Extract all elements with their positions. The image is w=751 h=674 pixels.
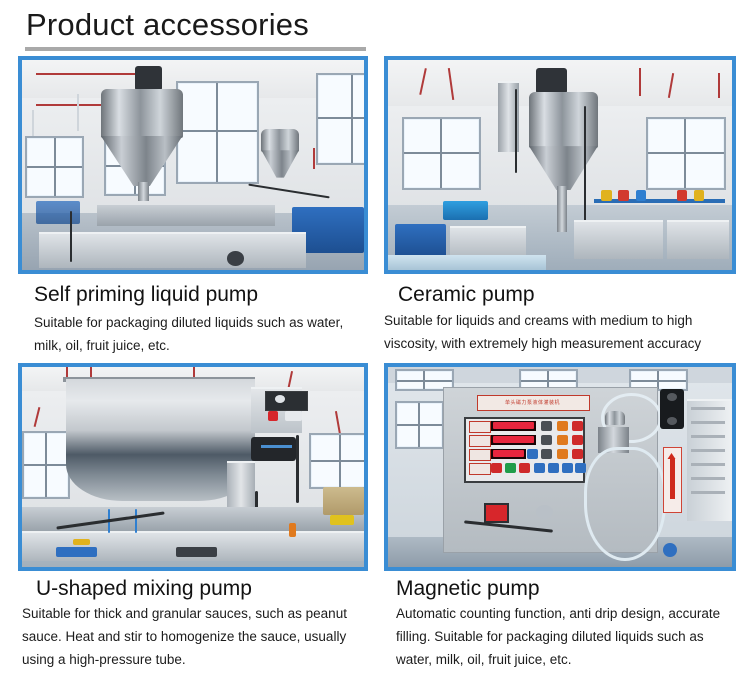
accessory-title: Ceramic pump <box>398 282 736 308</box>
section-header: Product accessories <box>0 0 751 56</box>
accessories-grid: Self priming liquid pump Suitable for pa… <box>0 56 751 674</box>
accessory-card-ceramic-pump[interactable]: Ceramic pump Suitable for liquids and cr… <box>384 56 736 355</box>
accessory-title: U-shaped mixing pump <box>36 576 368 602</box>
accessory-photo-magnetic-pump: 单头磁力泵液体灌装机 <box>384 363 736 571</box>
accessory-card-u-shaped-mixing-pump[interactable]: U-shaped mixing pump Suitable for thick … <box>18 363 368 671</box>
machine-name-label: 单头磁力泵液体灌装机 <box>477 395 587 409</box>
accessory-photo-u-shaped-mixing-pump <box>18 363 368 571</box>
accessory-card-magnetic-pump[interactable]: 单头磁力泵液体灌装机 <box>384 363 736 671</box>
title-underline-divider <box>25 47 366 51</box>
accessory-photo-self-priming-liquid-pump <box>18 56 368 274</box>
accessory-title: Self priming liquid pump <box>34 282 368 308</box>
accessory-description: Suitable for thick and granular sauces, … <box>22 602 374 671</box>
accessory-description: Suitable for packaging diluted liquids s… <box>34 311 364 357</box>
accessory-card-self-priming-liquid-pump[interactable]: Self priming liquid pump Suitable for pa… <box>18 56 368 357</box>
accessory-photo-ceramic-pump <box>384 56 736 274</box>
accessory-description: Automatic counting function, anti drip d… <box>396 602 734 671</box>
product-accessories-page: Product accessories <box>0 0 751 674</box>
page-title: Product accessories <box>26 5 309 45</box>
accessory-title: Magnetic pump <box>396 576 736 602</box>
accessory-description: Suitable for liquids and creams with med… <box>384 309 740 355</box>
